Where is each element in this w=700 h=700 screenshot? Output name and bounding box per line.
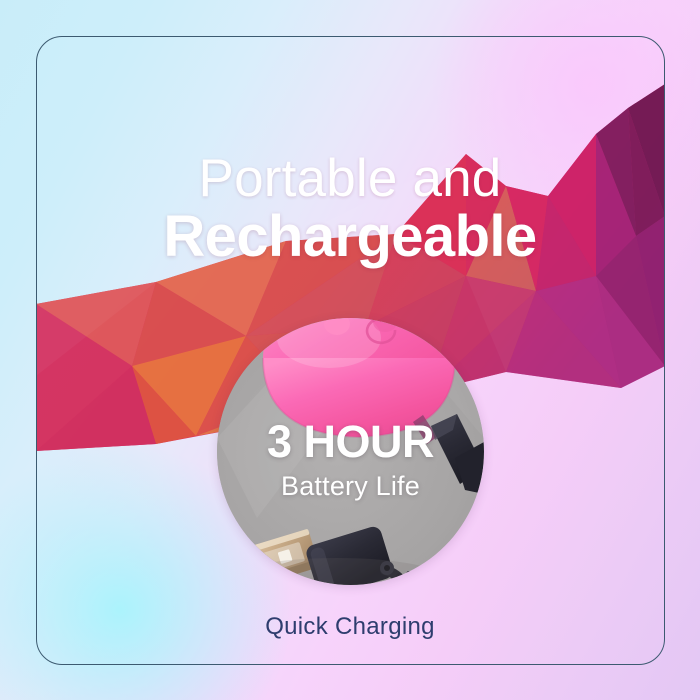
- product-photo-circle: 3 HOUR Battery Life: [217, 318, 484, 585]
- quick-charging-caption: Quick Charging: [0, 613, 700, 641]
- promo-card: Portable and Rechargeable: [0, 0, 700, 700]
- caption-block: Quick Charging: [0, 613, 700, 641]
